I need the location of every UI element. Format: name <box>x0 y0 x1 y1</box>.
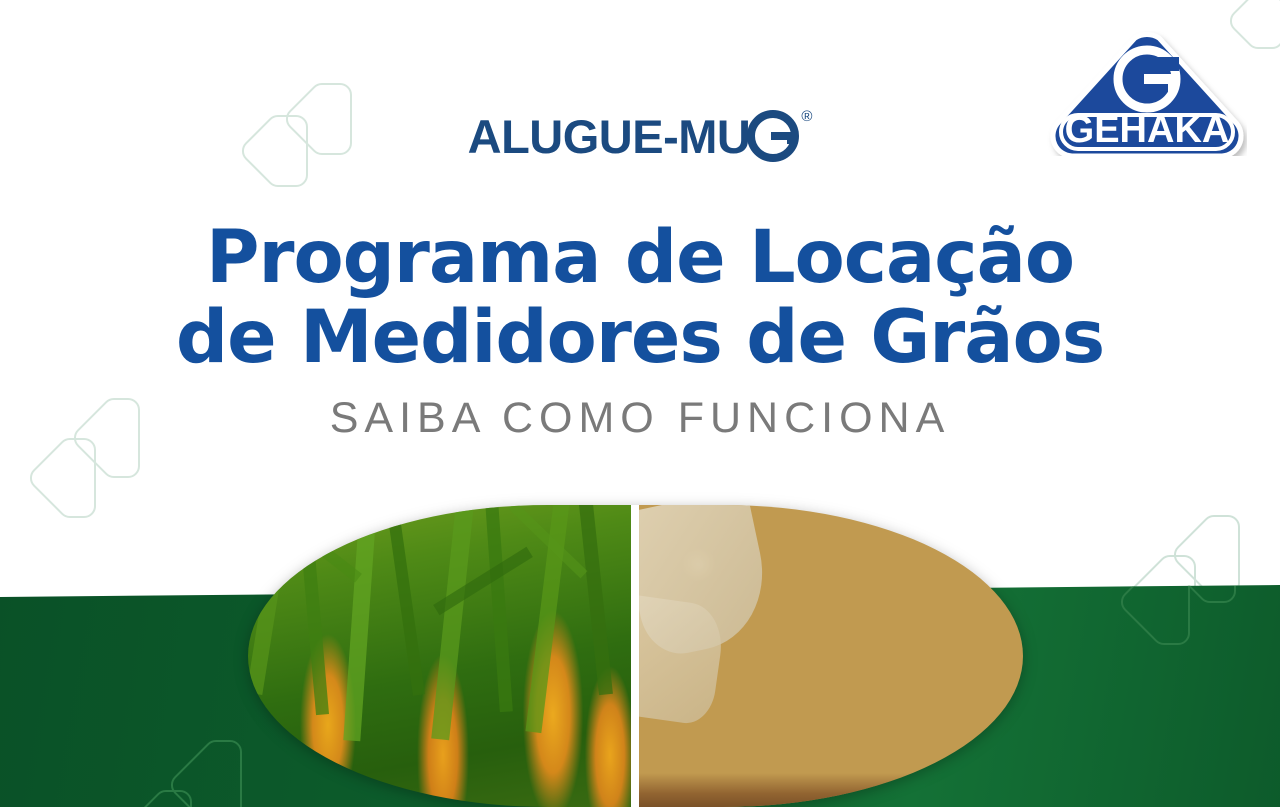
alugue-mug-wordmark: ALUGUE-MU <box>468 113 751 160</box>
page-title-line-1: Programa de Locação <box>0 218 1280 298</box>
svg-text:GEHAKA: GEHAKA <box>1065 109 1230 151</box>
decorative-triangles-green-band-right <box>1140 560 1270 652</box>
gehaka-logo: GEHAKA <box>1047 31 1247 156</box>
page-subtitle: SAIBA COMO FUNCIONA <box>0 393 1280 443</box>
corn-photo <box>248 505 631 807</box>
registered-trademark-icon: ® <box>801 108 812 125</box>
page-title-line-2: de Medidores de Grãos <box>0 298 1280 378</box>
poster-canvas: ALUGUE-MU ® GEHAKA P <box>0 0 1280 807</box>
alugue-mug-g-icon <box>747 110 799 167</box>
hero-photo-pill <box>248 505 1023 807</box>
photo-divider <box>631 505 640 807</box>
page-title: Programa de Locação de Medidores de Grão… <box>0 218 1280 378</box>
soybean-photo <box>639 505 1023 807</box>
